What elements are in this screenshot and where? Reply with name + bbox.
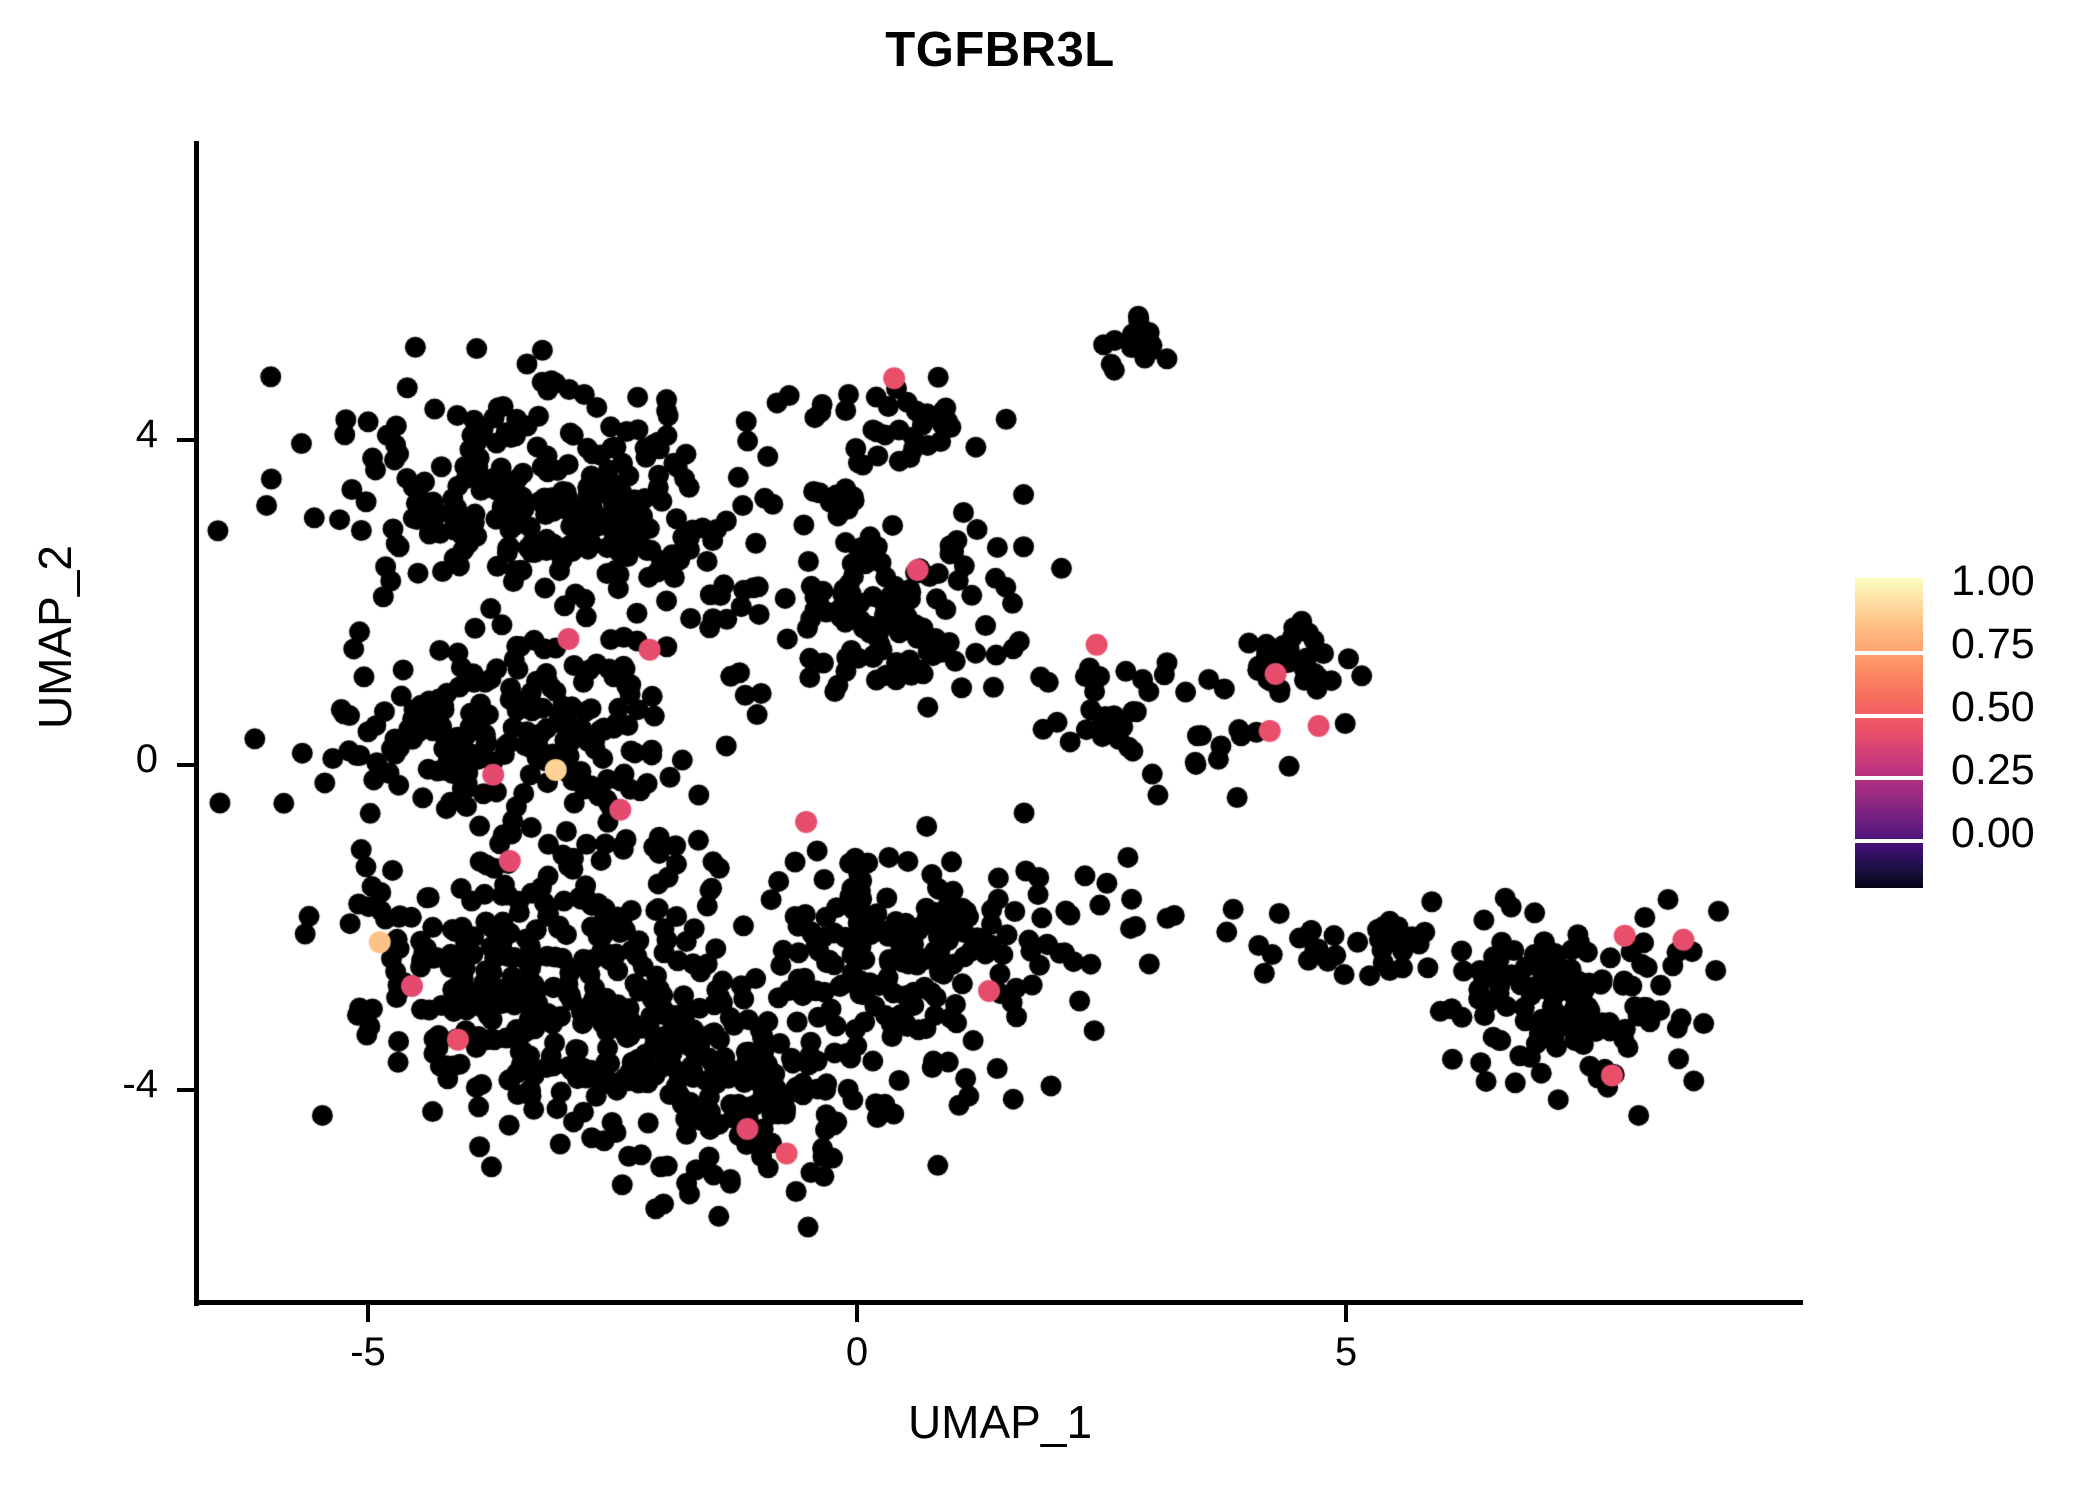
x-tick-label-0: 0 <box>797 1330 917 1375</box>
x-axis-title: UMAP_1 <box>460 1395 1540 1449</box>
colorbar-label-0.50: 0.50 <box>1951 683 2035 732</box>
colorbar-tick-0.75 <box>1855 714 1923 718</box>
x-tick-label-5: 5 <box>1286 1330 1406 1375</box>
y-tick-mark-4 <box>177 438 194 442</box>
scatter-points-layer <box>195 140 1805 1305</box>
colorbar-tick-1.00 <box>1855 651 1923 655</box>
y-tick-mark--4 <box>177 1088 194 1092</box>
y-tick-mark-0 <box>177 763 194 767</box>
y-axis-line <box>194 141 199 1306</box>
colorbar-label-0.75: 0.75 <box>1951 620 2035 669</box>
x-tick-mark-0 <box>855 1305 859 1322</box>
y-axis-title: UMAP_2 <box>28 377 82 897</box>
page-title: TGFBR3L <box>0 22 2000 78</box>
umap-feature-plot: TGFBR3L 4 0 -4 -5 0 5 UMAP_2 UMAP_1 1.00… <box>0 0 2100 1500</box>
colorbar-label-0.25: 0.25 <box>1951 746 2035 795</box>
x-axis-line <box>194 1300 1803 1305</box>
y-tick-label--4: -4 <box>38 1062 158 1107</box>
x-tick-label--5: -5 <box>308 1330 428 1375</box>
x-tick-mark--5 <box>366 1305 370 1322</box>
x-tick-mark-5 <box>1344 1305 1348 1322</box>
colorbar-label-0.00: 0.00 <box>1951 809 2035 858</box>
colorbar-gradient <box>1855 578 1923 888</box>
colorbar-tick-0.50 <box>1855 776 1923 780</box>
colorbar-label-1.00: 1.00 <box>1951 557 2035 606</box>
plot-panel <box>195 140 1805 1305</box>
colorbar-tick-0.25 <box>1855 839 1923 843</box>
colorbar-legend: 1.00 0.75 0.50 0.25 0.00 <box>1855 575 2100 895</box>
